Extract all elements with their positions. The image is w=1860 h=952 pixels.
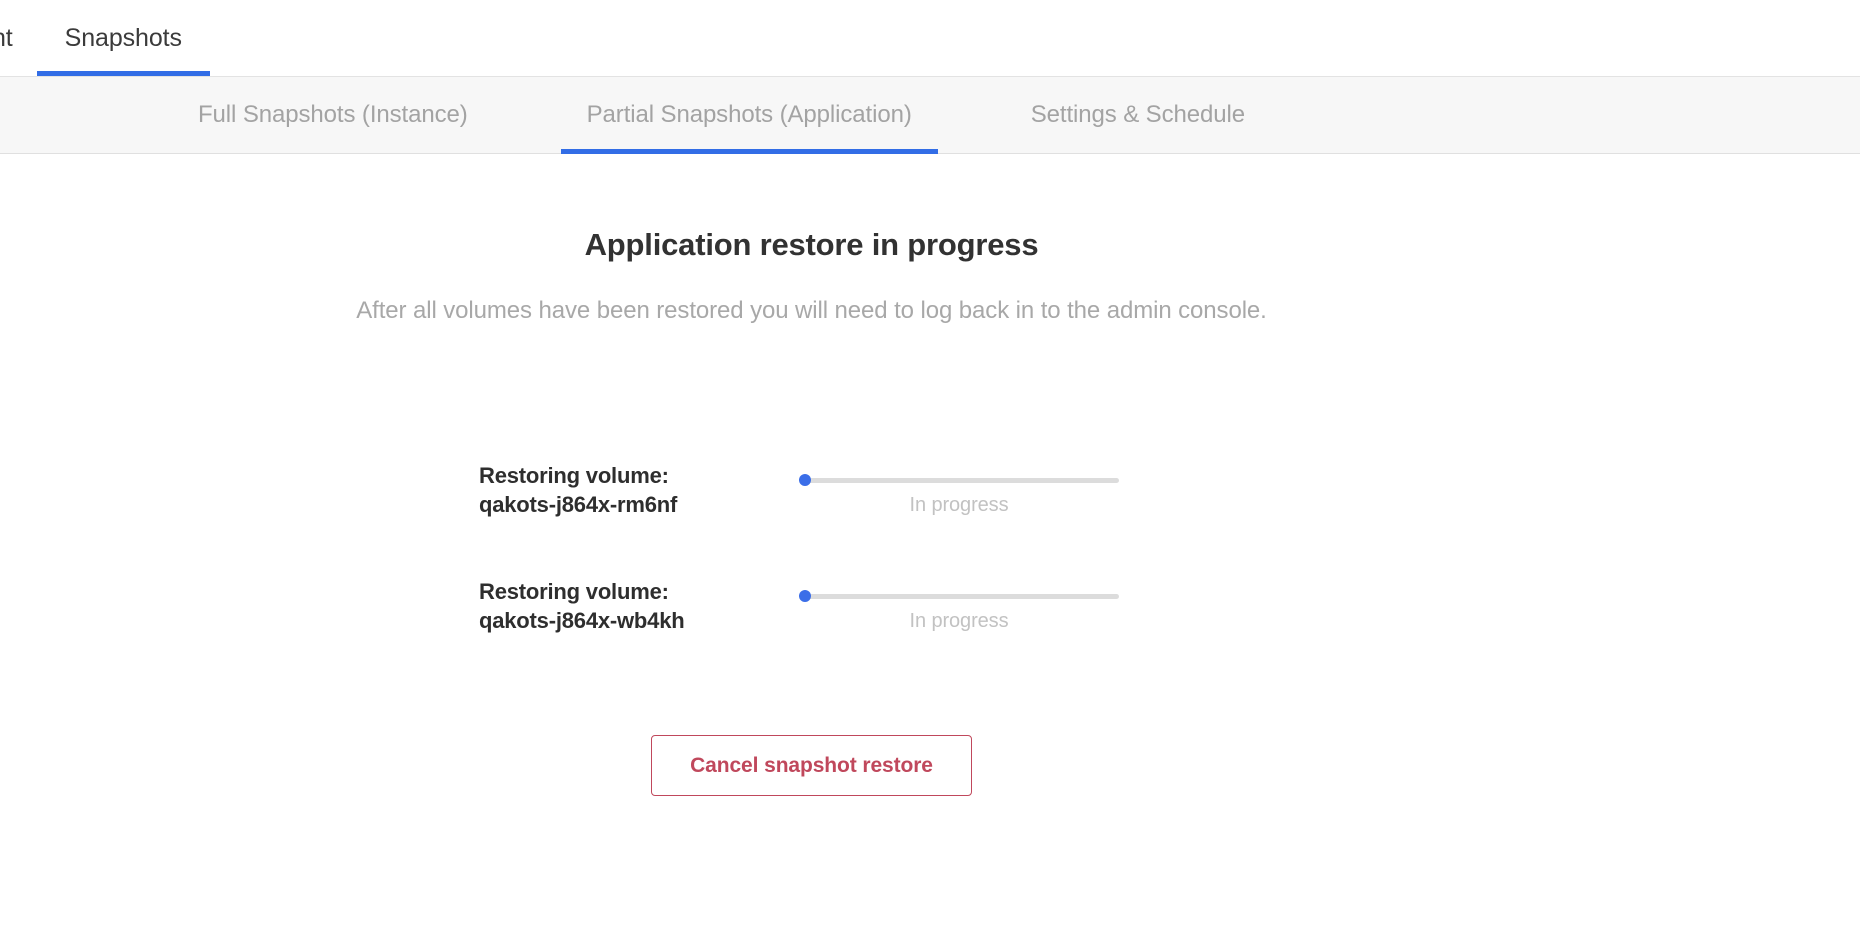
snapshots-subnav: Full Snapshots (Instance) Partial Snapsh… bbox=[0, 76, 1860, 154]
volume-name: qakots-j864x-rm6nf bbox=[479, 490, 799, 519]
tab-deployment-label: nt bbox=[0, 24, 13, 53]
primary-nav-tablist: nt Snapshots bbox=[0, 0, 182, 76]
tab-snapshots-label: Snapshots bbox=[65, 24, 182, 53]
volume-restore-list: Restoring volume: qakots-j864x-rm6nf In … bbox=[479, 461, 1124, 693]
primary-nav: nt Snapshots bbox=[0, 0, 1860, 76]
tab-snapshots[interactable]: Snapshots bbox=[65, 0, 182, 76]
volume-progress: In progress bbox=[799, 577, 1124, 633]
progress-indicator-dot bbox=[799, 474, 811, 486]
subtab-settings-schedule-label: Settings & Schedule bbox=[1031, 101, 1245, 129]
volume-restore-row: Restoring volume: qakots-j864x-wb4kh In … bbox=[479, 577, 1124, 693]
tab-deployment[interactable]: nt bbox=[0, 0, 13, 76]
volume-label: Restoring volume: qakots-j864x-wb4kh bbox=[479, 577, 799, 635]
progress-track bbox=[799, 477, 1119, 483]
volume-label-line1: Restoring volume: bbox=[479, 461, 799, 490]
subtab-partial-snapshots-active-indicator bbox=[561, 149, 938, 154]
progress-status-text: In progress bbox=[799, 494, 1119, 517]
volume-label-line1: Restoring volume: bbox=[479, 577, 799, 606]
page-title: Application restore in progress bbox=[0, 227, 1623, 263]
subtab-full-snapshots-label: Full Snapshots (Instance) bbox=[198, 101, 468, 129]
progress-indicator-dot bbox=[799, 590, 811, 602]
volume-restore-row: Restoring volume: qakots-j864x-rm6nf In … bbox=[479, 461, 1124, 577]
subtab-settings-schedule[interactable]: Settings & Schedule bbox=[1031, 77, 1245, 154]
subtab-partial-snapshots[interactable]: Partial Snapshots (Application) bbox=[587, 77, 912, 154]
cancel-snapshot-restore-button[interactable]: Cancel snapshot restore bbox=[651, 735, 972, 796]
cancel-button-container: Cancel snapshot restore bbox=[0, 735, 1623, 796]
volume-progress: In progress bbox=[799, 461, 1124, 517]
volume-label: Restoring volume: qakots-j864x-rm6nf bbox=[479, 461, 799, 519]
restore-progress-panel: Application restore in progress After al… bbox=[0, 154, 1860, 952]
progress-track bbox=[799, 593, 1119, 599]
progress-track-background bbox=[805, 478, 1119, 483]
page-subtitle: After all volumes have been restored you… bbox=[0, 297, 1623, 325]
subtab-full-snapshots[interactable]: Full Snapshots (Instance) bbox=[198, 77, 468, 154]
progress-track-background bbox=[805, 594, 1119, 599]
volume-name: qakots-j864x-wb4kh bbox=[479, 606, 799, 635]
subtab-partial-snapshots-label: Partial Snapshots (Application) bbox=[587, 101, 912, 129]
progress-status-text: In progress bbox=[799, 610, 1119, 633]
